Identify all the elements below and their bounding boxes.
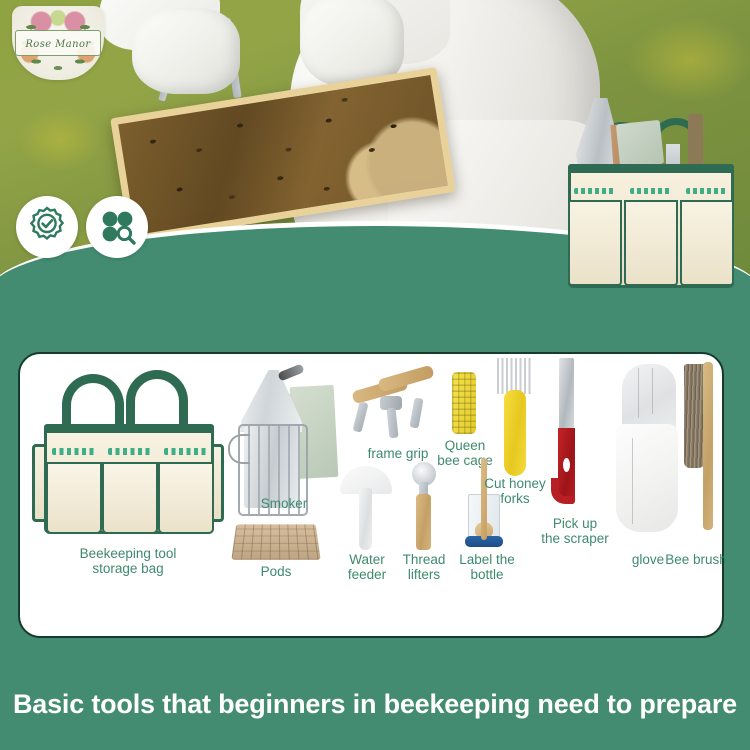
tool-image-queen-bee-cage	[452, 372, 476, 434]
tool-image-bee-brush	[684, 362, 716, 532]
brand-name: Rose Manor	[25, 39, 90, 50]
tool-image-thread-lifters	[406, 462, 440, 550]
quality-seal-icon	[16, 196, 78, 258]
bag-pocket	[568, 200, 622, 286]
bag-trim	[686, 188, 728, 194]
glove-seam	[638, 368, 639, 418]
tool-label-pods: Pods	[232, 564, 320, 579]
product-marketing-banner: Rose Manor	[0, 0, 750, 750]
fork-handle	[504, 390, 526, 476]
tool-image-smoker	[228, 368, 340, 516]
bag-trim	[108, 448, 152, 455]
bag-pocket	[680, 200, 734, 286]
tool-image-glove	[616, 364, 680, 532]
brush-handle	[703, 362, 713, 530]
tool-label-scraper: Pick up the scraper	[520, 516, 630, 546]
glove-seam	[632, 438, 633, 524]
bag-pocket	[158, 462, 214, 534]
tool-image-frame-grip	[350, 366, 448, 446]
bag-trim	[630, 188, 672, 194]
badge-group	[16, 196, 148, 258]
bag-pocket	[102, 462, 158, 534]
tool-image-pods	[231, 524, 320, 559]
beekeeper-glove-left	[132, 8, 240, 94]
smoker-nozzle	[277, 363, 304, 381]
tool-overview-card: Beekeeping tool storage bag Smoker Pods	[18, 352, 724, 638]
logo-plate: Rose Manor	[15, 30, 100, 56]
tool-image-storage-bag	[34, 370, 222, 540]
tool-label-storage-bag: Beekeeping tool storage bag	[40, 546, 216, 576]
tool-label-smoker: Smoker	[232, 496, 336, 511]
grip-jaw	[409, 397, 423, 428]
smoker-hook	[228, 434, 250, 464]
tool-image-scraper	[554, 358, 580, 504]
scraper-blade	[559, 358, 574, 434]
glove-seam	[652, 368, 653, 414]
product-shot-bag-with-tools	[566, 96, 738, 296]
grip-jaw	[353, 401, 369, 432]
fork-tines	[497, 358, 533, 394]
tool-label-bee-brush: Bee brush	[650, 552, 742, 567]
lifter-handle	[416, 494, 431, 550]
smoker-bellow-in-bag	[616, 120, 664, 168]
bag-trim	[574, 188, 616, 194]
scraper-hook	[551, 478, 573, 504]
bag-handle-icon	[126, 370, 188, 432]
tool-label-label-bottle: Label the bottle	[448, 552, 526, 582]
bag-trim	[164, 448, 208, 455]
tool-image-cut-honey-forks	[496, 358, 534, 476]
bag-pocket	[46, 462, 102, 534]
glove-cuff	[616, 424, 678, 532]
bag-trim	[52, 448, 96, 455]
grip-jaw	[386, 408, 398, 439]
feeder-tube	[359, 488, 372, 550]
bag-pocket	[624, 200, 678, 286]
banner-caption: Basic tools that beginners in beekeeping…	[0, 689, 750, 720]
beekeeper-glove-right	[300, 0, 404, 86]
detail-inspect-icon	[86, 196, 148, 258]
scraper-slot	[563, 458, 570, 472]
tool-image-water-feeder	[338, 466, 394, 548]
